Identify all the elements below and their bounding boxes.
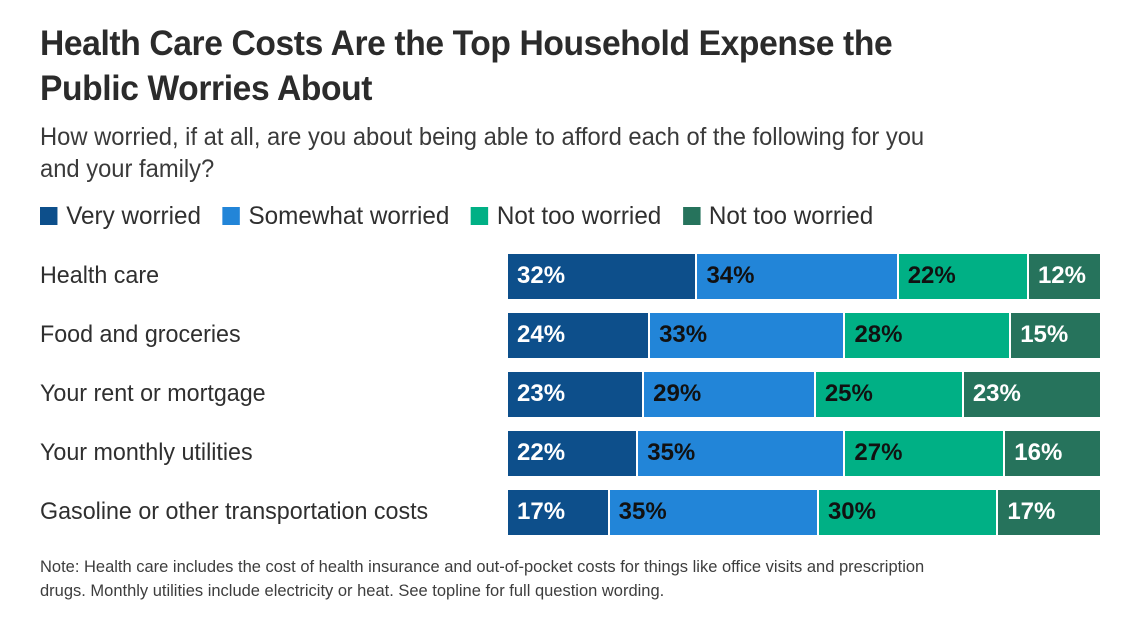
bar-segment-value: 33% (659, 323, 707, 347)
bar-segment[interactable]: 30% (819, 490, 998, 535)
chart-footnote: Note: Health care includes the cost of h… (40, 555, 942, 602)
chart-row: Gasoline or other transportation costs17… (40, 483, 1100, 542)
stacked-bar: 24%33%28%15% (508, 313, 1100, 358)
bar-segment[interactable]: 25% (816, 372, 964, 417)
bar-segment-value: 29% (653, 382, 701, 406)
bar-segment[interactable]: 27% (845, 431, 1005, 476)
bar-segment[interactable]: 34% (697, 254, 898, 299)
bar-segment[interactable]: 17% (998, 490, 1100, 535)
bar-segment-value: 17% (517, 500, 565, 524)
legend-swatch-icon (471, 207, 488, 225)
bar-segment-value: 24% (517, 323, 565, 347)
legend-item-label: Very worried (66, 204, 201, 229)
bar-segment[interactable]: 24% (508, 313, 650, 358)
chart-subtitle: How worried, if at all, are you about be… (40, 112, 952, 186)
bar-segment[interactable]: 29% (644, 372, 816, 417)
bar-segment[interactable]: 28% (845, 313, 1011, 358)
bar-segment-value: 23% (973, 382, 1021, 406)
legend-item[interactable]: Not too worried (471, 204, 662, 229)
bar-segment[interactable]: 23% (964, 372, 1100, 417)
chart-plot-area: Health care32%34%22%12%Food and grocerie… (40, 229, 1100, 542)
chart-row: Health care32%34%22%12% (40, 247, 1100, 306)
bar-segment[interactable]: 35% (638, 431, 845, 476)
bar-segment[interactable]: 22% (508, 431, 638, 476)
legend-item[interactable]: Somewhat worried (222, 204, 449, 229)
chart-title: Health Care Costs Are the Top Household … (40, 0, 976, 112)
legend-item-label: Not too worried (497, 204, 661, 229)
legend-item-label: Not too worried (709, 204, 873, 229)
bar-segment-value: 15% (1020, 323, 1068, 347)
bar-segment-value: 27% (854, 441, 902, 465)
bar-segment[interactable]: 22% (899, 254, 1029, 299)
bar-segment-value: 32% (517, 264, 565, 288)
chart-row-label: Your monthly utilities (40, 441, 494, 465)
legend-item[interactable]: Not too worried (683, 204, 874, 229)
bar-segment-value: 30% (828, 500, 876, 524)
stacked-bar: 17%35%30%17% (508, 490, 1100, 535)
chart-row: Food and groceries24%33%28%15% (40, 306, 1100, 365)
bar-segment-value: 23% (517, 382, 565, 406)
chart-row: Your monthly utilities22%35%27%16% (40, 424, 1100, 483)
chart-row-label: Food and groceries (40, 323, 494, 347)
legend-swatch-icon (683, 207, 700, 225)
bar-segment-value: 25% (825, 382, 873, 406)
stacked-bar: 23%29%25%23% (508, 372, 1100, 417)
bar-segment-value: 22% (908, 264, 956, 288)
chart-legend: Very worriedSomewhat worriedNot too worr… (40, 186, 1068, 229)
bar-segment[interactable]: 23% (508, 372, 644, 417)
bar-segment-value: 16% (1014, 441, 1062, 465)
bar-segment-value: 35% (619, 500, 667, 524)
chart-row: Your rent or mortgage23%29%25%23% (40, 365, 1100, 424)
bar-segment-value: 34% (706, 264, 754, 288)
bar-segment-value: 17% (1007, 500, 1055, 524)
legend-swatch-icon (222, 207, 239, 225)
bar-segment[interactable]: 32% (508, 254, 697, 299)
bar-segment[interactable]: 35% (610, 490, 819, 535)
chart-row-label: Gasoline or other transportation costs (40, 500, 494, 524)
bar-segment[interactable]: 33% (650, 313, 845, 358)
bar-segment-value: 12% (1038, 264, 1086, 288)
bar-segment-value: 22% (517, 441, 565, 465)
bar-segment[interactable]: 17% (508, 490, 610, 535)
bar-segment[interactable]: 15% (1011, 313, 1100, 358)
bar-segment[interactable]: 12% (1029, 254, 1100, 299)
legend-swatch-icon (40, 207, 57, 225)
chart-row-label: Your rent or mortgage (40, 382, 494, 406)
bar-segment[interactable]: 16% (1005, 431, 1100, 476)
stacked-bar: 22%35%27%16% (508, 431, 1100, 476)
chart-row-label: Health care (40, 264, 494, 288)
bar-segment-value: 28% (854, 323, 902, 347)
legend-item[interactable]: Very worried (40, 204, 201, 229)
bar-segment-value: 35% (647, 441, 695, 465)
stacked-bar: 32%34%22%12% (508, 254, 1100, 299)
legend-item-label: Somewhat worried (249, 204, 450, 229)
chart-figure: Health Care Costs Are the Top Household … (0, 0, 1140, 641)
